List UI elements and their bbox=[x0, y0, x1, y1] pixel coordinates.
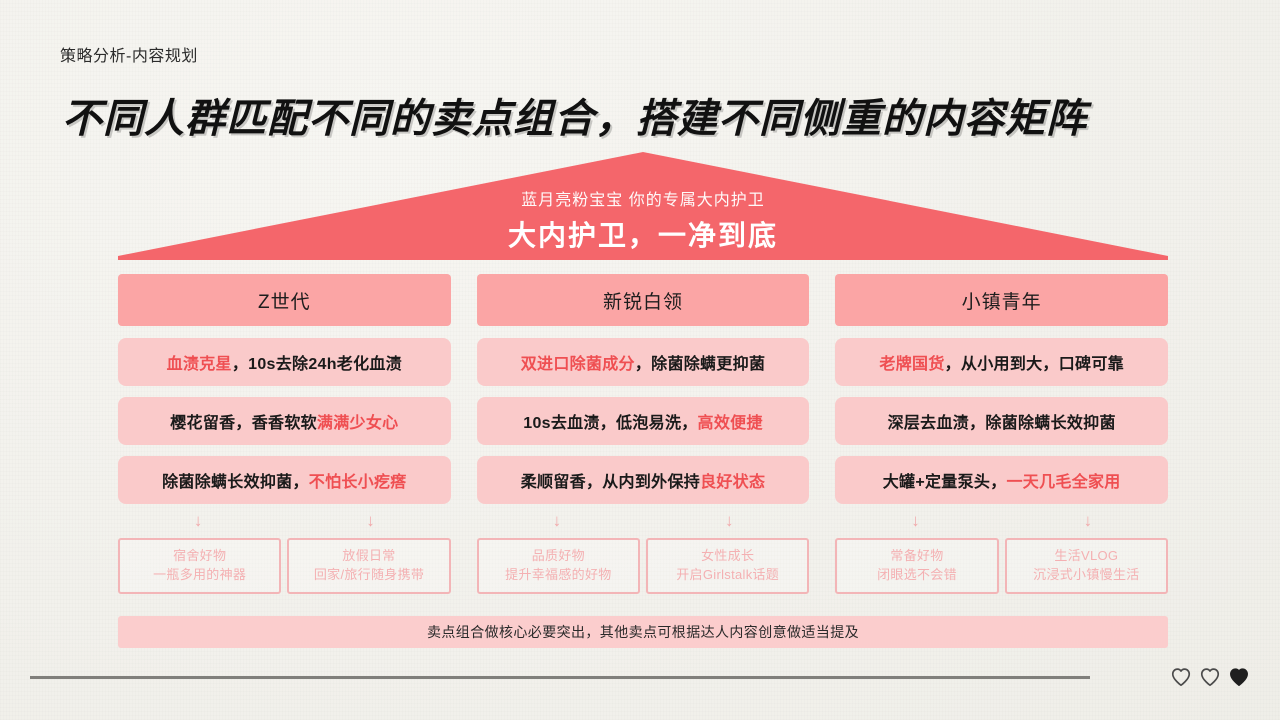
selling-point-list: 老牌国货，从小用到大，口碑可靠深层去血渍，除菌除螨长效抑菌大罐+定量泵头，一天几… bbox=[835, 338, 1168, 504]
content-tag-line1: 女性成长 bbox=[701, 547, 754, 566]
down-arrow-icon: ↓ bbox=[649, 512, 809, 532]
slide-kicker: 策略分析-内容规划 bbox=[60, 42, 198, 66]
down-arrow-icon: ↓ bbox=[835, 512, 995, 532]
selling-point-pre: 樱花留香，香香软软 bbox=[170, 409, 317, 433]
down-arrow-icon: ↓ bbox=[118, 512, 278, 532]
selling-point-post: ，从小用到大，口碑可靠 bbox=[945, 350, 1124, 374]
selling-point-list: 双进口除菌成分，除菌除螨更抑菌10s去血渍，低泡易洗，高效便捷柔顺留香，从内到外… bbox=[477, 338, 810, 504]
content-tag-box[interactable]: 女性成长开启Girlstalk话题 bbox=[646, 538, 809, 594]
page-title: 不同人群匹配不同的卖点组合，搭建不同侧重的内容矩阵 bbox=[62, 86, 1087, 144]
heart-outline-icon-1[interactable] bbox=[1170, 666, 1192, 688]
content-tag-line1: 放假日常 bbox=[342, 547, 395, 566]
content-tag-line1: 宿舍好物 bbox=[173, 547, 226, 566]
selling-point-highlight: 良好状态 bbox=[700, 468, 765, 492]
content-tag-line1: 品质好物 bbox=[532, 547, 585, 566]
content-tag-line1: 常备好物 bbox=[890, 547, 943, 566]
arrow-row: ↓↓ bbox=[835, 512, 1168, 532]
content-tag-line2: 沉浸式小镇慢生活 bbox=[1033, 566, 1139, 585]
content-tag-box[interactable]: 宿舍好物一瓶多用的神器 bbox=[118, 538, 281, 594]
selling-point-row[interactable]: 10s去血渍，低泡易洗，高效便捷 bbox=[477, 397, 810, 445]
selling-point-highlight: 老牌国货 bbox=[879, 350, 944, 374]
selling-point-pre: 深层去血渍，除菌除螨长效抑菌 bbox=[888, 409, 1116, 433]
selling-point-highlight: 血渍克星 bbox=[167, 350, 232, 374]
audience-header-1[interactable]: Z世代 bbox=[118, 274, 451, 326]
selling-point-pre: 除菌除螨长效抑菌， bbox=[162, 468, 309, 492]
content-tag-row: 常备好物闭眼选不会错生活VLOG沉浸式小镇慢生活 bbox=[835, 538, 1168, 594]
slide-canvas: 策略分析-内容规划 不同人群匹配不同的卖点组合，搭建不同侧重的内容矩阵 蓝月亮粉… bbox=[0, 0, 1280, 720]
heart-filled-icon[interactable] bbox=[1228, 666, 1250, 688]
content-tag-box[interactable]: 放假日常回家/旅行随身携带 bbox=[287, 538, 450, 594]
arrow-row: ↓↓ bbox=[477, 512, 810, 532]
roof-shape-icon bbox=[118, 152, 1168, 260]
footer-note-text: 卖点组合做核心必要突出，其他卖点可根据达人内容创意做适当提及 bbox=[427, 622, 859, 642]
arrow-row: ↓↓ bbox=[118, 512, 451, 532]
content-tag-box[interactable]: 生活VLOG沉浸式小镇慢生活 bbox=[1005, 538, 1168, 594]
selling-point-row[interactable]: 血渍克星，10s去除24h老化血渍 bbox=[118, 338, 451, 386]
down-arrow-icon: ↓ bbox=[477, 512, 637, 532]
matrix-column: 小镇青年老牌国货，从小用到大，口碑可靠深层去血渍，除菌除螨长效抑菌大罐+定量泵头… bbox=[835, 274, 1168, 594]
selling-point-pre: 10s去血渍，低泡易洗， bbox=[523, 409, 697, 433]
hearts-group bbox=[1170, 666, 1250, 688]
heart-outline-icon-2[interactable] bbox=[1199, 666, 1221, 688]
matrix-column: Z世代血渍克星，10s去除24h老化血渍樱花留香，香香软软满满少女心除菌除螨长效… bbox=[118, 274, 451, 594]
selling-point-row[interactable]: 除菌除螨长效抑菌，不怕长小疙瘩 bbox=[118, 456, 451, 504]
content-tag-line2: 提升幸福感的好物 bbox=[505, 566, 611, 585]
footer-note-bar: 卖点组合做核心必要突出，其他卖点可根据达人内容创意做适当提及 bbox=[118, 616, 1168, 648]
selling-point-post: ，除菌除螨更抑菌 bbox=[635, 350, 765, 374]
selling-point-post: ，10s去除24h老化血渍 bbox=[232, 350, 402, 374]
selling-point-highlight: 高效便捷 bbox=[698, 409, 763, 433]
selling-point-row[interactable]: 樱花留香，香香软软满满少女心 bbox=[118, 397, 451, 445]
content-tag-box[interactable]: 常备好物闭眼选不会错 bbox=[835, 538, 998, 594]
content-tag-line2: 一瓶多用的神器 bbox=[153, 566, 246, 585]
selling-point-highlight: 满满少女心 bbox=[317, 409, 399, 433]
selling-point-pre: 柔顺留香，从内到外保持 bbox=[521, 468, 700, 492]
audience-header-3[interactable]: 小镇青年 bbox=[835, 274, 1168, 326]
selling-point-highlight: 一天几毛全家用 bbox=[1007, 468, 1121, 492]
content-tag-line2: 闭眼选不会错 bbox=[877, 566, 957, 585]
roof-banner: 蓝月亮粉宝宝 你的专属大内护卫 大内护卫，一净到底 bbox=[118, 152, 1168, 260]
selling-point-row[interactable]: 双进口除菌成分，除菌除螨更抑菌 bbox=[477, 338, 810, 386]
selling-point-row[interactable]: 柔顺留香，从内到外保持良好状态 bbox=[477, 456, 810, 504]
selling-point-highlight: 不怕长小疙瘩 bbox=[309, 468, 407, 492]
content-tag-line2: 回家/旅行随身携带 bbox=[314, 566, 424, 585]
matrix-column: 新锐白领双进口除菌成分，除菌除螨更抑菌10s去血渍，低泡易洗，高效便捷柔顺留香，… bbox=[477, 274, 810, 594]
selling-point-highlight: 双进口除菌成分 bbox=[521, 350, 635, 374]
selling-point-pre: 大罐+定量泵头， bbox=[883, 468, 1007, 492]
selling-point-row[interactable]: 老牌国货，从小用到大，口碑可靠 bbox=[835, 338, 1168, 386]
audience-header-2[interactable]: 新锐白领 bbox=[477, 274, 810, 326]
content-tag-line1: 生活VLOG bbox=[1054, 547, 1118, 566]
content-tag-row: 宿舍好物一瓶多用的神器放假日常回家/旅行随身携带 bbox=[118, 538, 451, 594]
selling-point-row[interactable]: 大罐+定量泵头，一天几毛全家用 bbox=[835, 456, 1168, 504]
down-arrow-icon: ↓ bbox=[290, 512, 450, 532]
down-arrow-icon: ↓ bbox=[1008, 512, 1168, 532]
content-tag-box[interactable]: 品质好物提升幸福感的好物 bbox=[477, 538, 640, 594]
bottom-divider bbox=[30, 676, 1090, 679]
content-tag-row: 品质好物提升幸福感的好物女性成长开启Girlstalk话题 bbox=[477, 538, 810, 594]
content-tag-line2: 开启Girlstalk话题 bbox=[676, 566, 779, 585]
content-matrix: Z世代血渍克星，10s去除24h老化血渍樱花留香，香香软软满满少女心除菌除螨长效… bbox=[118, 274, 1168, 594]
selling-point-row[interactable]: 深层去血渍，除菌除螨长效抑菌 bbox=[835, 397, 1168, 445]
selling-point-list: 血渍克星，10s去除24h老化血渍樱花留香，香香软软满满少女心除菌除螨长效抑菌，… bbox=[118, 338, 451, 504]
